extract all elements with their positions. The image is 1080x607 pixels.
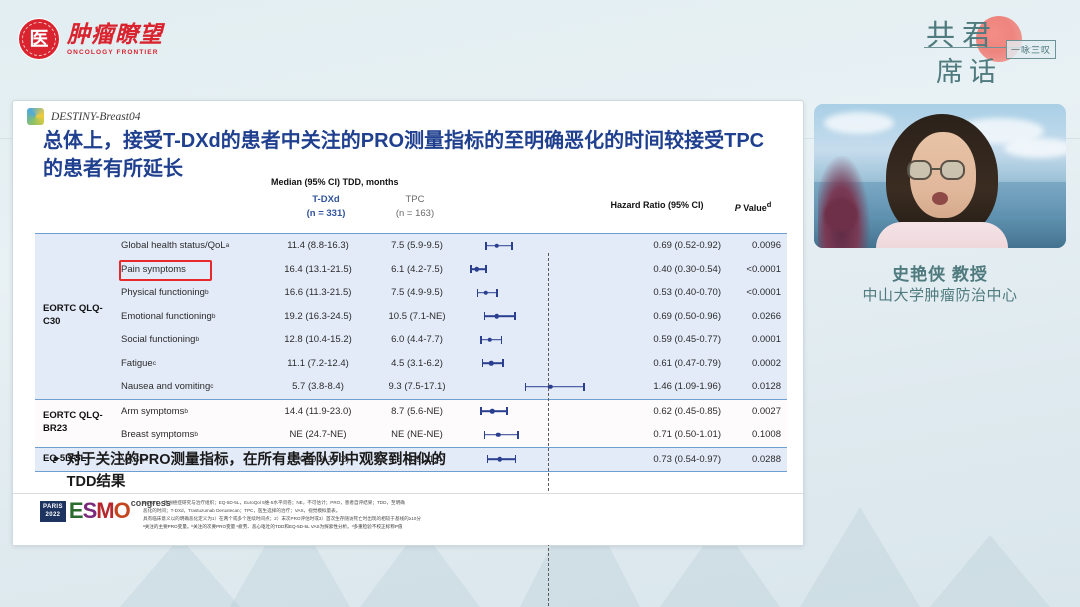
column-header-tdxd-n: (n = 331): [284, 207, 368, 221]
row-tpc-median: 6.0 (4.4-7.7): [371, 328, 463, 352]
ci-cap-low: [482, 359, 484, 367]
point-estimate-dot: [495, 314, 500, 319]
row-p-value: <0.0001: [725, 258, 781, 282]
esmo-letter-s: S: [83, 500, 97, 522]
table-group: EORTC QLQ-BR23Arm symptomsb14.4 (11.9-23…: [35, 399, 787, 447]
table-row[interactable]: Nausea and vomitingc5.7 (3.8-8.4)9.3 (7.…: [35, 375, 787, 399]
study-tag-label: DESTINY-Breast04: [51, 111, 140, 123]
seal-glyph: 医: [29, 30, 48, 49]
forest-plot-marker: [463, 400, 591, 424]
row-hazard-ratio: 0.71 (0.50-1.01): [593, 423, 721, 447]
brand-line-2: 席话: [936, 50, 1002, 89]
esmo-letter-e: E: [69, 500, 83, 522]
eyeglasses-right-lens-icon: [940, 160, 965, 180]
row-p-value: 0.0027: [725, 400, 781, 424]
ci-line: [484, 315, 516, 317]
esmo-paris-badge: PARIS 2022: [39, 500, 67, 523]
brand-badge: 一咏三叹: [1006, 40, 1056, 59]
footnote-line: ᵃ关注的主要PRO变量。ᵇ关注的次要PRO变量 ᶜ疲劳、恶心呕吐的TDD和EQ-…: [143, 523, 795, 531]
row-tpc-median: 7.5 (5.9-9.5): [371, 234, 463, 258]
row-tdxd-median: NE (24.7-NE): [263, 423, 373, 447]
table-row[interactable]: Pain symptoms16.4 (13.1-21.5)6.1 (4.2-7.…: [35, 258, 787, 282]
forest-plot-marker: [463, 328, 591, 352]
ci-cap-high: [501, 336, 503, 344]
ci-cap-low: [477, 289, 479, 297]
point-estimate-dot: [488, 338, 493, 343]
p-word: Value: [741, 203, 767, 213]
oncology-frontier-seal-icon: 医: [18, 18, 60, 60]
site-logo[interactable]: 医 肿瘤瞭望 ONCOLOGY FRONTIER: [18, 18, 163, 60]
row-measure-name: Pain symptoms: [121, 258, 186, 282]
row-hazard-ratio: 0.69 (0.52-0.92): [593, 234, 721, 258]
ci-cap-high: [517, 431, 519, 439]
table-row[interactable]: Global health status/QoLa11.4 (8.8-16.3)…: [35, 234, 787, 258]
bullet-marker: •: [53, 449, 59, 494]
presentation-slide: DESTINY-Breast04 总体上，接受T-DXd的患者中关注的PRO测量…: [12, 100, 804, 546]
row-p-value: 0.0288: [725, 448, 781, 472]
ci-line: [525, 386, 585, 388]
row-p-value: 0.0002: [725, 352, 781, 376]
slide-footer: PARIS 2022 E S M O congress EORTC，欧洲癌症研究…: [13, 493, 803, 545]
forest-plot-marker: [463, 375, 591, 399]
row-measure-name: Breast symptomsb: [121, 423, 198, 447]
point-estimate-dot: [496, 433, 501, 438]
row-tpc-median: NE (NE-NE): [371, 423, 463, 447]
row-measure-name: Fatiguec: [121, 352, 156, 376]
column-header-hazard-ratio: Hazard Ratio (95% CI): [595, 200, 719, 210]
speaker-video-panel[interactable]: 史艳侠 教授 中山大学肿瘤防治中心: [814, 104, 1066, 317]
speaker-video-frame[interactable]: [814, 104, 1066, 248]
p-footnote-marker: d: [767, 200, 772, 209]
row-p-value: 0.0096: [725, 234, 781, 258]
point-estimate-dot: [490, 409, 495, 414]
ci-cap-high: [506, 407, 508, 415]
row-hazard-ratio: 0.73 (0.54-0.97): [593, 448, 721, 472]
row-tpc-median: 8.7 (5.6-NE): [371, 400, 463, 424]
point-estimate-dot: [497, 457, 502, 462]
row-tpc-median: 9.3 (7.5-17.1): [371, 375, 463, 399]
logo-text-cn: 肿瘤瞭望: [67, 23, 163, 46]
column-header-tdxd: T-DXd (n = 331): [284, 193, 368, 221]
ci-cap-low: [470, 265, 472, 273]
row-tpc-median: 7.5 (4.9-9.5): [371, 281, 463, 305]
forest-plot-marker: [463, 258, 591, 282]
forest-plot-marker: [463, 234, 591, 258]
ci-cap-low: [484, 431, 486, 439]
row-measure-name: Social functioningb: [121, 328, 199, 352]
page-header: 医 肿瘤瞭望 ONCOLOGY FRONTIER 共君 席话 一咏三叹: [0, 0, 1080, 92]
row-tdxd-median: 16.4 (13.1-21.5): [263, 258, 373, 282]
slide-bullet: • 对于关注的PRO测量指标，在所有患者队列中观察到相似的TDD结果: [53, 449, 453, 494]
row-hazard-ratio: 0.61 (0.47-0.79): [593, 352, 721, 376]
ci-line: [484, 434, 519, 436]
row-measure-name: Emotional functioningb: [121, 305, 215, 329]
eyeglasses-bridge: [932, 168, 940, 170]
row-tdxd-median: 5.7 (3.8-8.4): [263, 375, 373, 399]
speaker-name: 史艳侠 教授: [814, 260, 1066, 285]
point-estimate-dot: [484, 291, 489, 296]
ci-cap-high: [515, 455, 517, 463]
esmo-year: 2022: [43, 512, 63, 520]
row-tdxd-median: 11.1 (7.2-12.4): [263, 352, 373, 376]
forest-plot-marker: [463, 305, 591, 329]
row-p-value: 0.0001: [725, 328, 781, 352]
table-row[interactable]: Arm symptomsb14.4 (11.9-23.0)8.7 (5.6-NE…: [35, 400, 787, 424]
ci-cap-high: [502, 359, 504, 367]
program-brand: 共君 席话 一咏三叹: [908, 6, 1058, 88]
forest-plot-marker: [463, 423, 591, 447]
footnotes: EORTC，欧洲癌症研究与治疗组织；EQ-5D-5L，EuroQol 5维-5水…: [143, 499, 795, 531]
row-tdxd-median: 11.4 (8.8-16.3): [263, 234, 373, 258]
row-tpc-median: 6.1 (4.2-7.5): [371, 258, 463, 282]
column-header-median: Median (95% CI) TDD, months: [271, 177, 399, 187]
point-estimate-dot: [489, 361, 494, 366]
point-estimate-dot: [495, 244, 500, 249]
row-hazard-ratio: 0.62 (0.45-0.85): [593, 400, 721, 424]
ci-cap-low: [525, 383, 527, 391]
study-logo-icon: [27, 108, 44, 125]
ci-cap-high: [496, 289, 498, 297]
esmo-letter-m: M: [96, 500, 113, 522]
esmo-wordmark: E S M O: [69, 500, 130, 522]
column-header-p-value: P Valued: [723, 200, 783, 213]
row-hazard-ratio: 0.53 (0.40-0.70): [593, 281, 721, 305]
ci-cap-low: [485, 242, 487, 250]
column-header-tpc-label: TPC: [375, 193, 455, 207]
flower-foreground: [824, 198, 858, 232]
null-reference-line: [548, 253, 549, 607]
footnote-line: 恶化的时间；T-DXd，Trastuzumab Deruxtecan；TPC，医…: [143, 507, 795, 515]
row-measure-name: Physical functioningb: [121, 281, 209, 305]
speaker-shirt: [876, 222, 1008, 248]
row-measure-name: Nausea and vomitingc: [121, 375, 214, 399]
speaker-affiliation: 中山大学肿瘤防治中心: [814, 284, 1066, 305]
point-estimate-dot: [475, 267, 480, 272]
ci-cap-high: [514, 312, 516, 320]
study-tag: DESTINY-Breast04: [27, 108, 140, 125]
footnote-line: EORTC，欧洲癌症研究与治疗组织；EQ-5D-5L，EuroQol 5维-5水…: [143, 499, 795, 507]
ci-cap-low: [487, 455, 489, 463]
bullet-text: 对于关注的PRO测量指标，在所有患者队列中观察到相似的TDD结果: [67, 449, 453, 494]
row-tdxd-median: 16.6 (11.3-21.5): [263, 281, 373, 305]
table-row[interactable]: Physical functioningb16.6 (11.3-21.5)7.5…: [35, 281, 787, 305]
forest-plot-marker: [463, 352, 591, 376]
row-p-value: 0.0128: [725, 375, 781, 399]
table-row[interactable]: Breast symptomsbNE (24.7-NE)NE (NE-NE)0.…: [35, 423, 787, 447]
row-p-value: 0.1008: [725, 423, 781, 447]
esmo-letter-o: O: [114, 500, 130, 522]
row-measure-name: Global health status/QoLa: [121, 234, 229, 258]
ci-cap-high: [485, 265, 487, 273]
column-header-tpc-n: (n = 163): [375, 207, 455, 221]
ci-cap-high: [511, 242, 513, 250]
row-hazard-ratio: 0.40 (0.30-0.54): [593, 258, 721, 282]
slide-title: 总体上，接受T-DXd的患者中关注的PRO测量指标的至明确恶化的时间较接受TPC…: [43, 127, 783, 184]
row-p-value: <0.0001: [725, 281, 781, 305]
table-row[interactable]: Fatiguec11.1 (7.2-12.4)4.5 (3.1-6.2)0.61…: [35, 352, 787, 376]
row-tdxd-median: 14.4 (11.9-23.0): [263, 400, 373, 424]
column-header-tpc: TPC (n = 163): [375, 193, 455, 221]
row-tpc-median: 10.5 (7.1-NE): [371, 305, 463, 329]
row-tpc-median: 4.5 (3.1-6.2): [371, 352, 463, 376]
logo-text-en: ONCOLOGY FRONTIER: [67, 49, 163, 56]
column-header-tdxd-label: T-DXd: [284, 193, 368, 207]
row-p-value: 0.0266: [725, 305, 781, 329]
row-hazard-ratio: 0.59 (0.45-0.77): [593, 328, 721, 352]
ci-cap-high: [583, 383, 585, 391]
speaker-mouth: [932, 192, 948, 205]
ci-cap-low: [480, 407, 482, 415]
table-group: EORTC QLQ-C30Global health status/QoLa11…: [35, 233, 787, 399]
table-body: EORTC QLQ-C30Global health status/QoLa11…: [35, 233, 787, 472]
ci-cap-low: [484, 312, 486, 320]
forest-plot-marker: [463, 281, 591, 305]
row-tdxd-median: 12.8 (10.4-15.2): [263, 328, 373, 352]
row-hazard-ratio: 1.46 (1.09-1.96): [593, 375, 721, 399]
forest-plot-marker: [463, 448, 591, 472]
row-hazard-ratio: 0.69 (0.50-0.96): [593, 305, 721, 329]
row-measure-name: Arm symptomsb: [121, 400, 188, 424]
ci-cap-low: [480, 336, 482, 344]
row-tdxd-median: 19.2 (16.3-24.5): [263, 305, 373, 329]
eyeglasses-left-lens-icon: [907, 160, 932, 180]
esmo-city: PARIS: [43, 504, 63, 512]
table-row[interactable]: Emotional functioningb19.2 (16.3-24.5)10…: [35, 305, 787, 329]
footnote-line: 具有临床意义以的明确恶化定义为1）在两个或多个连续时间点；2）末次PRO评估时或…: [143, 515, 795, 523]
table-row[interactable]: Social functioningb12.8 (10.4-15.2)6.0 (…: [35, 328, 787, 352]
